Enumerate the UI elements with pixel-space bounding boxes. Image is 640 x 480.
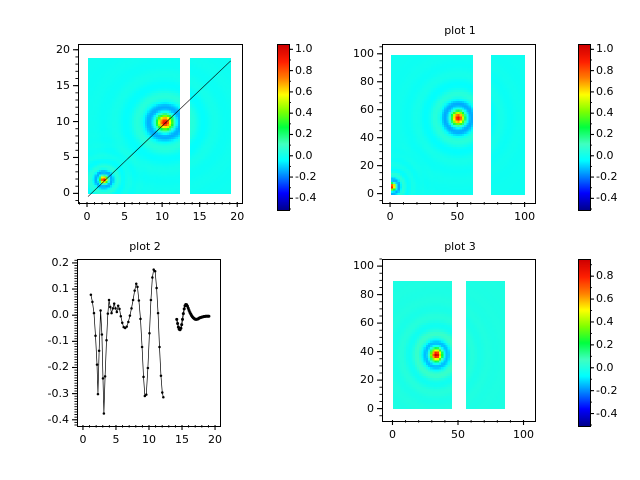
ytick-label: 0 [24,186,70,199]
data-point [107,312,110,315]
data-point [116,311,119,314]
xtick-label: 0 [372,428,412,441]
data-point [145,393,148,396]
data-point [133,289,136,292]
data-point [132,299,135,302]
ytick-label: -0.3 [23,387,69,400]
xtick-label: 5 [105,210,145,223]
data-point [130,307,133,310]
overlay-diagonal-line [79,45,242,203]
data-point [114,307,117,310]
panel-top-left: 0510152005101520-0.4-0.20.00.20.40.60.81… [0,0,320,240]
data-point [182,312,185,315]
line-series-segment-a [91,270,163,414]
panel-top-left-colorbar[interactable] [277,44,290,211]
data-point [113,302,116,305]
data-point [94,335,97,338]
line-series-svg [78,260,221,427]
xtick-label: 15 [180,210,220,223]
heatmap-image-0 [391,55,473,195]
figure-canvas: 0510152005101520-0.4-0.20.00.20.40.60.81… [0,0,640,480]
colorbar-tick-label: 0.6 [596,292,614,305]
data-point [112,307,115,310]
data-point [117,305,120,308]
ytick-label: 0.0 [23,308,69,321]
colorbar-tick-label: 1.0 [596,42,614,55]
colorbar-tick-label: 1.0 [295,42,313,55]
data-point [102,377,105,380]
data-point [121,321,124,324]
panel-bottom-left: plot 2 05101520-0.4-0.3-0.2-0.10.00.10.2 [0,240,320,480]
data-point [93,312,96,315]
data-point [125,325,128,328]
colorbar-tick-label: 0.6 [596,85,614,98]
xtick-label: 50 [437,210,477,223]
data-point [127,321,130,324]
data-point [136,286,139,289]
colorbar-tick-label: 0.2 [295,127,313,140]
colorbar-tick-label: 0.0 [596,149,614,162]
ytick-label: 60 [328,103,374,116]
data-point [104,375,107,378]
data-point [142,376,145,379]
xtick-label: 100 [505,210,545,223]
panel-top-right-axes[interactable] [382,44,536,204]
colorbar-tick-label: -0.2 [295,170,316,183]
ytick-label: 0 [328,402,374,415]
panel-top-right-title: plot 1 [360,24,560,37]
data-point [158,346,161,349]
colorbar-tick-label: -0.4 [596,191,617,204]
heatmap-image-1 [491,55,525,195]
panel-bottom-right: plot 3 050100020406080100-0.4-0.20.00.20… [320,240,640,480]
data-point [181,318,184,321]
ytick-label: -0.4 [23,413,69,426]
data-point [98,349,101,352]
ytick-label: 0.1 [23,282,69,295]
data-point [147,367,150,370]
data-point [176,322,179,325]
panel-bottom-right-axes[interactable] [382,259,536,422]
ytick-label: 20 [328,373,374,386]
data-point [99,309,102,312]
data-point [135,283,138,286]
data-point [155,287,158,290]
data-point [207,315,210,318]
data-point [139,318,142,321]
ytick-label: 100 [328,259,374,272]
data-point [90,294,93,297]
panel-bottom-right-title: plot 3 [360,240,560,253]
xtick-label: 20 [217,210,257,223]
ytick-label: 20 [24,43,70,56]
ytick-label: 40 [328,131,374,144]
ytick-label: 20 [328,159,374,172]
ytick-label: -0.2 [23,360,69,373]
panel-bottom-right-colorbar[interactable] [578,259,591,427]
panel-bottom-left-title: plot 2 [45,240,245,253]
xtick-label: 0 [370,210,410,223]
data-point [183,307,186,310]
ytick-label: 0.2 [23,256,69,269]
ytick-label: 40 [328,345,374,358]
ytick-label: 80 [328,288,374,301]
colorbar-tick-label: 0.4 [295,106,313,119]
data-point [148,332,151,335]
data-point [96,363,99,366]
data-point [179,327,182,330]
data-point [180,323,183,326]
data-point [151,276,154,279]
data-point [118,308,121,311]
data-point [91,301,94,304]
colorbar-tick-label: 0.0 [596,361,614,374]
ytick-label: 15 [24,79,70,92]
colorbar-tick-label: 0.2 [596,338,614,351]
ytick-label: 10 [24,115,70,128]
xtick-label: 100 [504,428,544,441]
data-point [120,315,123,318]
xtick-label: 20 [195,433,235,446]
ytick-label: -0.1 [23,334,69,347]
data-point [141,346,144,349]
data-point [138,299,141,302]
data-point [157,312,160,315]
panel-top-left-axes[interactable] [78,44,243,204]
panel-top-right-colorbar[interactable] [578,44,591,211]
data-point [160,375,163,378]
data-point [101,333,104,336]
data-point [162,396,165,399]
data-point [154,270,157,273]
data-point [105,339,108,342]
xtick-label: 0 [67,210,107,223]
ytick-label: 0 [328,187,374,200]
colorbar-tick-label: 0.8 [295,64,313,77]
colorbar-tick-label: 0.6 [295,85,313,98]
colorbar-tick-label: 0.8 [596,269,614,282]
data-point [175,318,178,321]
heatmap-image-0 [393,281,452,409]
xtick-label: 50 [438,428,478,441]
data-point [150,299,153,302]
colorbar-tick-label: -0.2 [596,170,617,183]
data-point [108,299,111,302]
data-point [161,391,164,394]
colorbar-tick-label: -0.4 [295,191,316,204]
data-point [103,412,106,415]
ytick-label: 5 [24,150,70,163]
ytick-label: 80 [328,75,374,88]
panel-top-right: plot 1 050100020406080100-0.4-0.20.00.20… [320,0,640,240]
colorbar-tick-label: 0.4 [596,106,614,119]
colorbar-tick-label: 0.2 [596,127,614,140]
xtick-label: 10 [142,210,182,223]
ytick-label: 60 [328,316,374,329]
data-point [129,314,132,317]
data-point [97,393,100,396]
panel-bottom-left-axes[interactable] [77,259,221,427]
data-point [110,312,113,315]
colorbar-tick-label: 0.0 [295,149,313,162]
data-point [109,306,112,309]
colorbar-tick-label: 0.8 [596,64,614,77]
colorbar-tick-label: 0.4 [596,315,614,328]
colorbar-tick-label: -0.2 [596,384,617,397]
heatmap-image-1 [466,281,505,409]
ytick-label: 100 [328,47,374,60]
colorbar-tick-label: -0.4 [596,407,617,420]
